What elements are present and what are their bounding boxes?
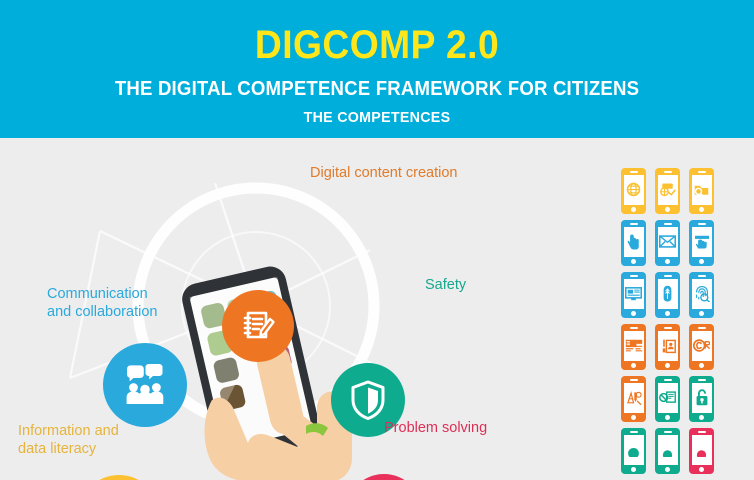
problem-solve-icon [693,442,710,457]
mini-phone-copyright[interactable] [689,324,714,370]
phone-screen [658,227,678,257]
home-button [665,467,670,472]
mini-phone-health[interactable] [621,428,646,474]
phone-screen [692,227,712,257]
node-label-digital-content-creation: Digital content creation [310,165,458,183]
phone-screen [658,331,678,361]
page-subtitle: THE DIGITAL COMPETENCE FRAMEWORK FOR CIT… [26,79,727,99]
content-area: Digital content creation [0,138,754,480]
web-layout-icon [625,338,643,353]
phone-screen [692,279,712,309]
phone-screen [624,227,644,257]
copyright-icon [693,338,710,353]
speaker-bar [630,431,638,433]
mini-phone-globe[interactable] [621,168,646,214]
health-icon [625,442,642,457]
padlock-icon [695,389,709,406]
speaker-bar [698,223,706,225]
mini-phone-problem-solve[interactable] [689,428,714,474]
mini-phone-environment[interactable] [655,428,680,474]
creative-tools-icon [625,390,642,406]
phone-screen [624,435,644,465]
speaker-bar [630,223,638,225]
environment-icon [659,442,676,457]
mini-phone-padlock[interactable] [689,376,714,422]
home-button [665,363,670,368]
mini-phone-netiquette[interactable] [655,272,680,318]
home-button [631,207,636,212]
home-button [665,311,670,316]
mini-phone-hand-tap[interactable] [621,220,646,266]
phone-screen [624,383,644,413]
folder-search-icon [693,182,710,197]
home-button [699,259,704,264]
phone-screen [658,175,678,205]
mini-phone-envelope[interactable] [655,220,680,266]
node-digital-content-creation[interactable] [222,290,294,362]
home-button [631,467,636,472]
home-button [665,207,670,212]
mini-phone-protect-device[interactable] [655,376,680,422]
home-button [631,311,636,316]
phone-screen [692,331,712,361]
node-label-safety: Safety [425,277,466,295]
speaker-bar [630,327,638,329]
home-button [665,415,670,420]
home-button [699,467,704,472]
mini-phone-web-layout[interactable] [621,324,646,370]
speaker-bar [664,431,672,433]
hand-tap-icon [627,233,640,250]
speaker-bar [630,379,638,381]
phone-screen [624,175,644,205]
netiquette-icon [661,285,674,302]
mini-phone-globe-share[interactable] [655,168,680,214]
speaker-bar [698,275,706,277]
fingerprint-search-icon [694,285,710,302]
hand-pointer-icon [694,235,710,249]
speaker-bar [698,171,706,173]
globe-share-icon [659,182,676,197]
phone-screen [658,383,678,413]
phone-screen [658,435,678,465]
protect-device-icon [659,390,676,405]
home-button [665,259,670,264]
monitor-news-icon [625,287,642,301]
phone-screen [658,279,678,309]
document-pencil-icon [239,307,277,345]
speaker-bar [664,275,672,277]
mini-phone-document-edit[interactable] [655,324,680,370]
mini-phone-folder-search[interactable] [689,168,714,214]
phone-screen [692,175,712,205]
mini-phone-creative-tools[interactable] [621,376,646,422]
mini-phone-fingerprint-search[interactable] [689,272,714,318]
speaker-bar [698,379,706,381]
phone-icon-grid [621,168,731,474]
speaker-bar [664,171,672,173]
speaker-bar [664,327,672,329]
home-button [699,207,704,212]
speaker-bar [630,275,638,277]
mini-phone-monitor-news[interactable] [621,272,646,318]
shield-icon [349,379,387,421]
speaker-bar [698,327,706,329]
phone-screen [692,383,712,413]
phone-screen [692,435,712,465]
document-edit-icon [660,338,676,354]
page-title: DIGCOMP 2.0 [26,25,727,65]
node-label-problem-solving: Problem solving [384,420,487,438]
page-subtitle-secondary: THE COMPETENCES [19,110,735,125]
home-button [699,311,704,316]
competence-wheel-diagram: Digital content creation [0,138,610,480]
home-button [631,363,636,368]
home-button [631,259,636,264]
phone-screen [624,331,644,361]
node-label-communication-and-collaboration: Communication and collaboration [47,286,157,321]
globe-icon [626,182,641,197]
people-speech-bubbles-icon [121,362,169,408]
home-button [699,363,704,368]
envelope-icon [659,235,676,248]
header-banner: DIGCOMP 2.0 THE DIGITAL COMPETENCE FRAME… [0,0,754,138]
speaker-bar [698,431,706,433]
speaker-bar [664,223,672,225]
node-label-information-and-data-literacy: Information and data literacy [18,423,119,458]
home-button [631,415,636,420]
phone-screen [624,279,644,309]
mini-phone-hand-pointer[interactable] [689,220,714,266]
speaker-bar [664,379,672,381]
speaker-bar [630,171,638,173]
node-communication-and-collaboration[interactable] [103,343,187,427]
home-button [699,415,704,420]
